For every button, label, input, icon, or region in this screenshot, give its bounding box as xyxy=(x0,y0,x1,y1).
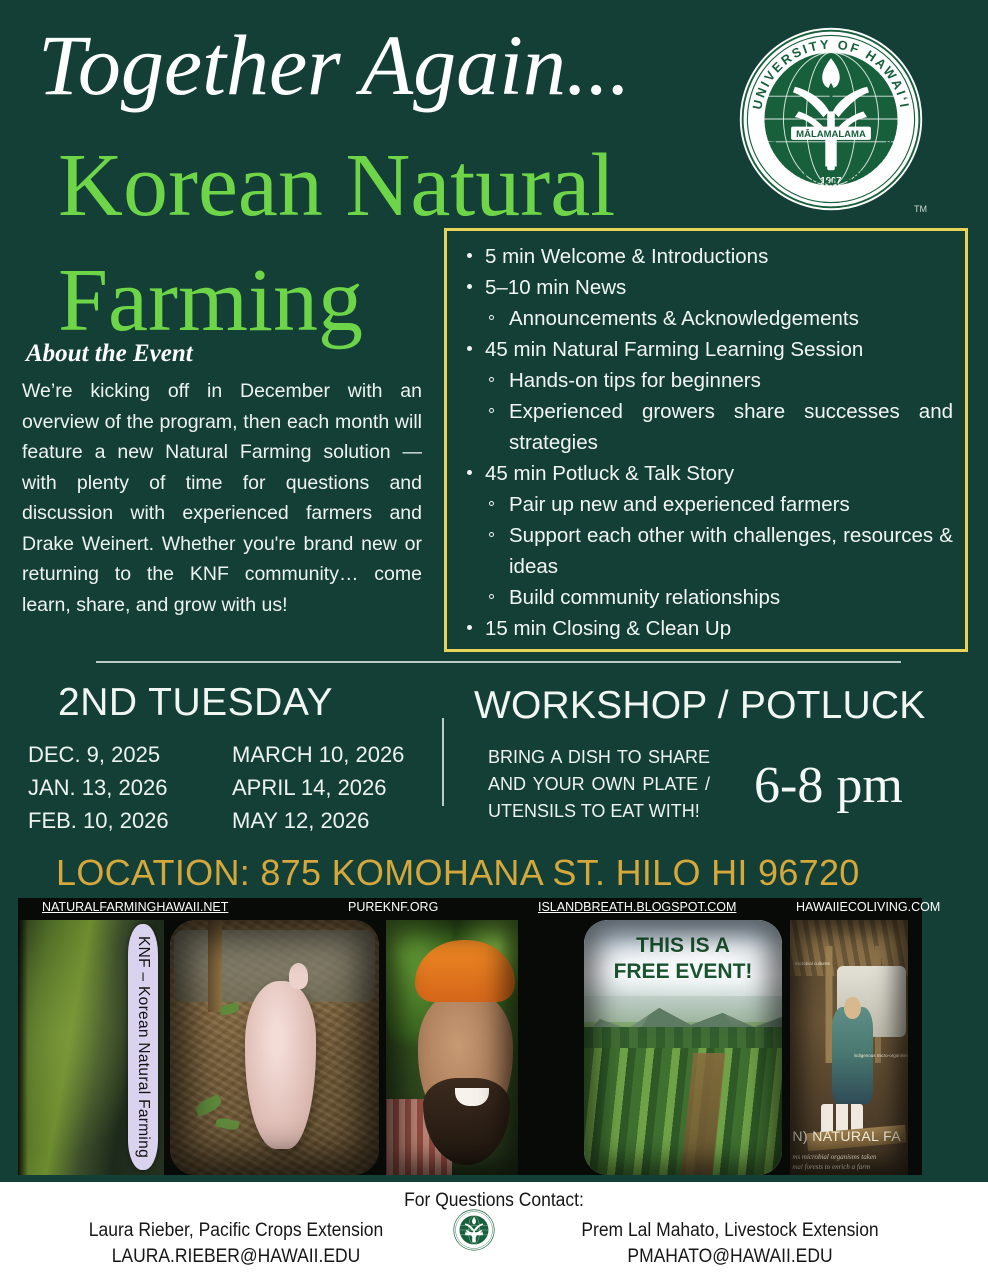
workshop-instructions: BRING A DISH TO SHARE AND YOUR OWN PLATE… xyxy=(488,744,710,825)
event-time: 6-8 pm xyxy=(754,756,903,815)
link-hawaiiecoliving[interactable]: HAWAIIECOLIVING.COM xyxy=(796,900,940,914)
university-of-hawaii-mini-seal-icon xyxy=(452,1208,496,1252)
agenda-item-label: 15 min Closing & Clean Up xyxy=(485,617,731,640)
link-pureknf[interactable]: PUREKNF.ORG xyxy=(348,900,438,914)
bullet-hollow-icon xyxy=(489,315,494,320)
contact-1-email[interactable]: LAURA.RIEBER@HAWAII.EDU xyxy=(52,1246,420,1268)
date-item: DEC. 9, 2025 xyxy=(28,738,169,771)
bullet-hollow-icon xyxy=(489,408,494,413)
vertical-divider xyxy=(442,718,444,806)
dates-column-left: DEC. 9, 2025 JAN. 13, 2026 FEB. 10, 2026 xyxy=(28,738,169,837)
photo-vignette xyxy=(584,920,782,1175)
agenda-item-label: 5–10 min News xyxy=(485,276,626,299)
contact-2-email[interactable]: PMAHATO@HAWAII.EDU xyxy=(537,1246,923,1268)
agenda-subitem: Experienced growers share successes and … xyxy=(479,396,953,458)
bullet-filled-icon xyxy=(467,625,472,630)
agenda-subitem: Hands-on tips for beginners xyxy=(479,365,953,396)
contact-2-name: Prem Lal Mahato, Livestock Extension xyxy=(537,1220,923,1242)
date-item: MARCH 10, 2026 xyxy=(232,738,404,771)
photo-dark-edge xyxy=(18,920,28,1175)
date-item: JAN. 13, 2026 xyxy=(28,771,169,804)
about-heading: About the Event xyxy=(26,340,193,368)
trademark-symbol: TM xyxy=(914,204,927,214)
bullet-filled-icon xyxy=(467,346,472,351)
university-of-hawaii-seal-icon: MĀLAMALAMA 1907 UNIVERSITY OF HAWAI‘I UA… xyxy=(736,24,926,214)
agenda-item-label: 45 min Potluck & Talk Story xyxy=(485,462,734,485)
agenda-subitem: Announcements & Acknowledgements xyxy=(479,303,953,334)
bullet-hollow-icon xyxy=(489,594,494,599)
agenda-item: 5 min Welcome & Introductions xyxy=(457,241,953,272)
agenda-item: 45 min Potluck & Talk Story xyxy=(457,458,953,489)
agenda-subitem-label: Announcements & Acknowledgements xyxy=(509,307,859,330)
dates-column-right: MARCH 10, 2026 APRIL 14, 2026 MAY 12, 20… xyxy=(232,738,404,837)
flyer-page: Together Again... Korean Natural Farming xyxy=(0,0,988,1280)
bullet-filled-icon xyxy=(467,470,472,475)
knf-label-text: KNF – Korean Natural Farming xyxy=(134,936,152,1158)
seal-banner-text: MĀLAMALAMA xyxy=(796,129,866,140)
photo-imo-poster: microbial cultures indigenous micro-orga… xyxy=(790,920,908,1175)
title-line-korean-natural: Korean Natural xyxy=(58,136,615,235)
agenda-list: 5 min Welcome & Introductions 5–10 min N… xyxy=(457,241,953,644)
horizontal-divider xyxy=(96,661,901,663)
agenda-item-label: 45 min Natural Farming Learning Session xyxy=(485,338,863,361)
bullet-hollow-icon xyxy=(489,532,494,537)
date-item: MAY 12, 2026 xyxy=(232,804,404,837)
photo-grass-field: KNF – Korean Natural Farming xyxy=(18,920,164,1175)
photo-farm-rows: THIS IS A FREE EVENT! xyxy=(584,920,782,1175)
agenda-item-label: 5 min Welcome & Introductions xyxy=(485,245,768,268)
bullet-filled-icon xyxy=(467,253,472,258)
bullet-hollow-icon xyxy=(489,377,494,382)
bullet-filled-icon xyxy=(467,284,472,289)
workshop-heading: WORKSHOP / POTLUCK xyxy=(474,684,925,728)
agenda-box: 5 min Welcome & Introductions 5–10 min N… xyxy=(444,228,968,652)
agenda-subitem-label: Hands-on tips for beginners xyxy=(509,369,761,392)
agenda-item: 45 min Natural Farming Learning Session xyxy=(457,334,953,365)
knf-vertical-label: KNF – Korean Natural Farming xyxy=(128,924,158,1170)
bullet-hollow-icon xyxy=(489,501,494,506)
schedule-heading: 2ND TUESDAY xyxy=(58,681,333,725)
links-row: NATURALFARMINGHAWAII.NET PUREKNF.ORG ISL… xyxy=(18,898,922,918)
photo-pig-on-mulch xyxy=(170,920,379,1175)
about-body-text: We’re kicking off in December with an ov… xyxy=(22,376,422,620)
photo-vignette xyxy=(386,920,518,1175)
agenda-subitem-label: Build community relationships xyxy=(509,586,780,609)
photo-vignette xyxy=(170,920,379,1175)
agenda-subitem: Pair up new and experienced farmers xyxy=(479,489,953,520)
agenda-subitem-label: Support each other with challenges, reso… xyxy=(509,524,953,578)
agenda-subitem: Build community relationships xyxy=(479,582,953,613)
agenda-item: 15 min Closing & Clean Up xyxy=(457,613,953,644)
link-islandbreath[interactable]: ISLANDBREATH.BLOGSPOT.COM xyxy=(538,900,736,914)
date-item: FEB. 10, 2026 xyxy=(28,804,169,837)
photo-vignette xyxy=(790,920,908,1175)
agenda-subitem-label: Pair up new and experienced farmers xyxy=(509,493,850,516)
location-text: LOCATION: 875 KOMOHANA ST. HILO HI 96720 xyxy=(56,852,860,894)
link-naturalfarminghawaii[interactable]: NATURALFARMINGHAWAII.NET xyxy=(42,900,228,914)
photo-farmer-portrait xyxy=(386,920,518,1175)
date-item: APRIL 14, 2026 xyxy=(232,771,404,804)
agenda-item: 5–10 min News xyxy=(457,272,953,303)
agenda-subitem-label: Experienced growers share successes and … xyxy=(509,400,953,454)
photo-strip: KNF – Korean Natural Farming xyxy=(18,898,922,1175)
contact-1-name: Laura Rieber, Pacific Crops Extension xyxy=(52,1220,420,1242)
title-together-again: Together Again... xyxy=(38,22,631,108)
agenda-subitem: Support each other with challenges, reso… xyxy=(479,520,953,582)
